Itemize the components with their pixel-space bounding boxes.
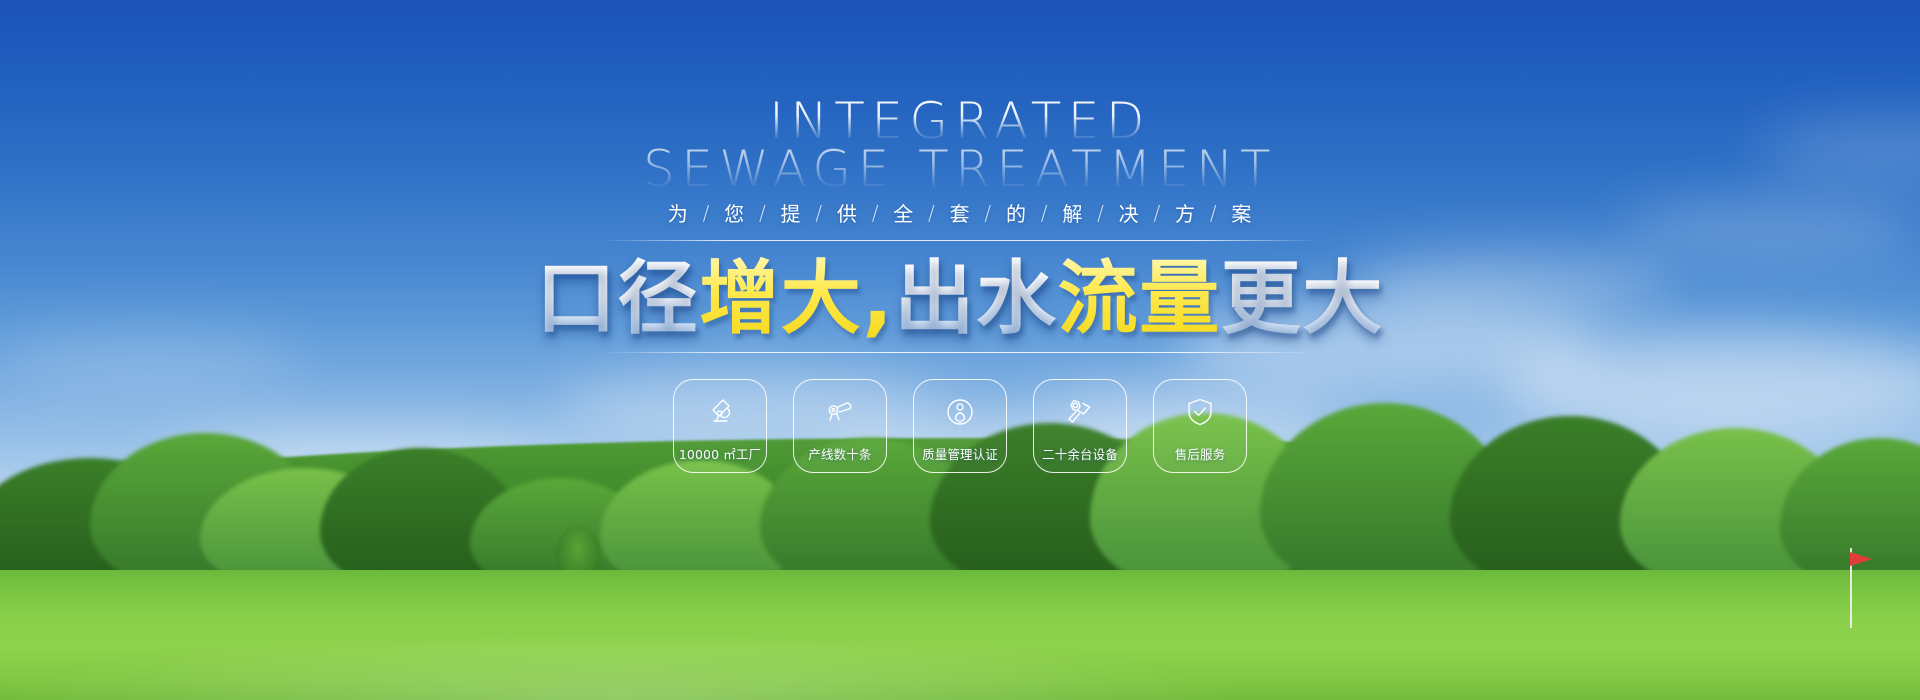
quality-person-icon [943, 395, 977, 429]
feature-badge-label: 10000 ㎡工厂 [679, 444, 761, 463]
main-headline: 口径 增大, 出水 流量 更大 [536, 257, 1384, 342]
headline-part-2: 增大, [699, 257, 894, 342]
feature-badge[interactable]: 二十余台设备 [1033, 379, 1127, 473]
subtitle-separator: / [703, 201, 711, 225]
headline-part-1: 口径 [536, 257, 699, 342]
english-headline-line2: SEWAGE TREATMENT [643, 146, 1277, 192]
headline-part-4: 流量 [1058, 257, 1221, 342]
subtitle-char: 供 [837, 198, 858, 227]
feature-badge-label: 产线数十条 [808, 444, 871, 463]
feature-badge-label: 质量管理认证 [922, 444, 998, 463]
subtitle-char: 解 [1062, 198, 1083, 227]
subtitle-separator: / [759, 201, 767, 225]
headline-part-3: 出水 [894, 257, 1057, 342]
divider-bottom [600, 352, 1320, 353]
subtitle-separator: / [1097, 201, 1105, 225]
feature-badge-label: 二十余台设备 [1042, 444, 1118, 463]
subtitle-char: 套 [950, 198, 971, 227]
feature-badge-list: 10000 ㎡工厂 产线数十条 [673, 379, 1247, 473]
headline-part-5: 更大 [1221, 257, 1384, 342]
subtitle-separator: / [1041, 201, 1049, 225]
feature-badge-label: 售后服务 [1175, 444, 1226, 463]
feature-badge[interactable]: 10000 ㎡工厂 [673, 379, 767, 473]
subtitle-char: 全 [893, 198, 914, 227]
feature-badge[interactable]: 质量管理认证 [913, 379, 1007, 473]
feature-badge[interactable]: 产线数十条 [793, 379, 887, 473]
subtitle-char: 的 [1006, 198, 1027, 227]
banner-content: INTEGRATED SEWAGE TREATMENT 为 / 您 / 提 / … [0, 0, 1920, 700]
hero-banner: INTEGRATED SEWAGE TREATMENT 为 / 您 / 提 / … [0, 0, 1920, 700]
subtitle-separator: / [872, 201, 880, 225]
bolt-tool-icon [1063, 395, 1097, 429]
microscope-icon [703, 395, 737, 429]
subtitle-char: 方 [1175, 198, 1196, 227]
feature-badge[interactable]: 售后服务 [1153, 379, 1247, 473]
subtitle-separator: / [984, 201, 992, 225]
english-headline-line1: INTEGRATED [769, 98, 1151, 144]
subtitle-char: 提 [781, 198, 802, 227]
subtitle-char: 案 [1231, 198, 1252, 227]
subtitle-slash-line: 为 / 您 / 提 / 供 / 全 / 套 / 的 / 解 / 决 / 方 / [668, 198, 1252, 227]
divider-top [600, 240, 1320, 241]
subtitle-char: 决 [1119, 198, 1140, 227]
subtitle-char: 为 [668, 198, 689, 227]
subtitle-separator: / [928, 201, 936, 225]
subtitle-char: 您 [724, 198, 745, 227]
subtitle-separator: / [1153, 201, 1161, 225]
subtitle-separator: / [815, 201, 823, 225]
subtitle-separator: / [1210, 201, 1218, 225]
wrench-gear-icon [823, 395, 857, 429]
subtitle-block: 为 / 您 / 提 / 供 / 全 / 套 / 的 / 解 / 决 / 方 / [600, 198, 1320, 241]
shield-check-icon [1183, 395, 1217, 429]
